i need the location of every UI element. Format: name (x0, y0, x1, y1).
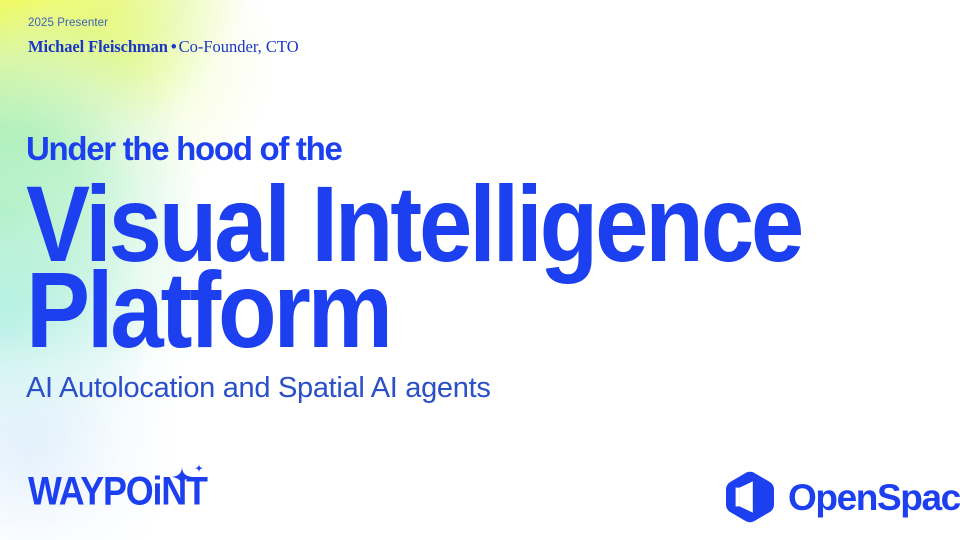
title-kicker: Under the hood of the (26, 132, 801, 165)
presenter-name: Michael Fleischman (28, 37, 168, 56)
presenter-line: Michael Fleischman•Co-Founder, CTO (28, 37, 299, 57)
presenter-block: 2025 Presenter Michael Fleischman•Co-Fou… (28, 17, 299, 57)
presenter-separator-bullet: • (168, 37, 179, 57)
presenter-eyebrow: 2025 Presenter (28, 17, 299, 31)
openspace-logo: OpenSpace (722, 469, 960, 525)
title-headline-line-2: Platform (26, 265, 801, 357)
presenter-role: Co-Founder, CTO (179, 37, 299, 56)
presentation-slide: 2025 Presenter Michael Fleischman•Co-Fou… (0, 0, 960, 540)
waypoint-logo: WAYPOiNT (28, 474, 212, 511)
title-block: Under the hood of the Visual Intelligenc… (26, 132, 801, 405)
openspace-hexagon-icon (722, 469, 778, 525)
sparkle-icon (168, 461, 210, 489)
openspace-wordmark: OpenSpace (788, 479, 960, 516)
title-subtitle: AI Autolocation and Spatial AI agents (26, 373, 801, 405)
